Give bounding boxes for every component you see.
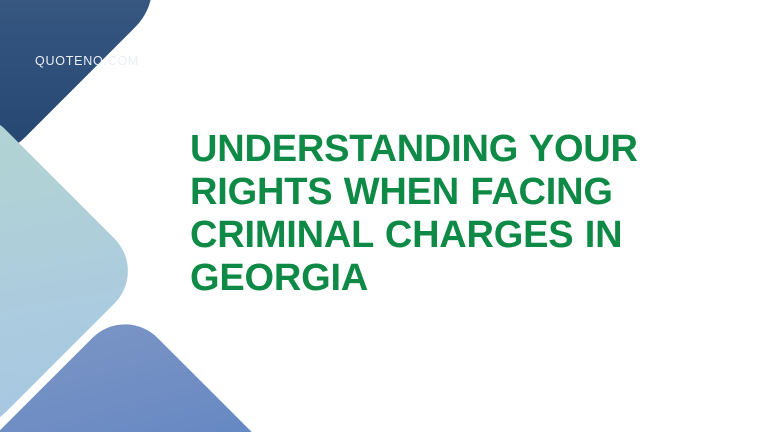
brand-name-text: QUOTENO.COM <box>35 55 139 68</box>
navy-rounded-square-shape <box>0 0 176 178</box>
brand-logo: QUOTENO.COM <box>35 55 139 68</box>
headline-block: UNDERSTANDING YOUR RIGHTS WHEN FACING CR… <box>190 128 710 300</box>
blue-rounded-square-shape <box>0 305 295 432</box>
page-title: UNDERSTANDING YOUR RIGHTS WHEN FACING CR… <box>190 128 710 300</box>
blog-header-card: QUOTENO.COM UNDERSTANDING YOUR RIGHTS WH… <box>0 0 768 432</box>
teal-rounded-square-shape <box>0 97 147 432</box>
